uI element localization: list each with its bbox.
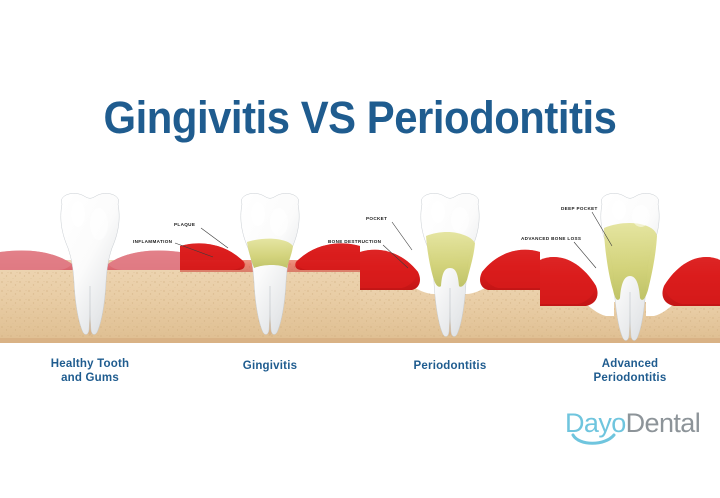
caption-advanced-periodontitis: Advanced Periodontitis xyxy=(540,357,720,385)
infographic-page: Gingivitis VS Periodontitis xyxy=(0,0,720,498)
panel-gingivitis xyxy=(180,190,360,365)
annotation-inflammation: INFLAMMATION xyxy=(133,239,172,244)
smile-swoosh-icon xyxy=(571,433,617,449)
panel-advanced-periodontitis xyxy=(540,190,720,365)
caption-line: Healthy Tooth xyxy=(0,357,180,371)
panel-healthy-tooth xyxy=(0,190,180,365)
dayo-dental-logo: DayoDental xyxy=(565,408,705,452)
annotation-pocket: POCKET xyxy=(366,216,387,221)
caption-line: Advanced xyxy=(540,357,720,371)
annotation-advanced-bone-loss: ADVANCED BONE LOSS xyxy=(521,236,581,241)
caption-gingivitis: Gingivitis xyxy=(180,359,360,373)
panels-row xyxy=(0,190,720,365)
caption-line: Periodontitis xyxy=(540,371,720,385)
caption-periodontitis: Periodontitis xyxy=(360,359,540,373)
annotation-deep-pocket: DEEP POCKET xyxy=(561,206,598,211)
captions-row: Healthy Tooth and Gums Gingivitis Period… xyxy=(0,357,720,399)
caption-line: Gingivitis xyxy=(180,359,360,373)
caption-line: and Gums xyxy=(0,371,180,385)
annotation-bone-destruction: BONE DESTRUCTION xyxy=(328,239,381,244)
logo-dental-text: Dental xyxy=(626,408,700,438)
annotation-plaque: PLAQUE xyxy=(174,222,195,227)
caption-healthy-tooth: Healthy Tooth and Gums xyxy=(0,357,180,385)
page-title: Gingivitis VS Periodontitis xyxy=(25,92,695,144)
caption-line: Periodontitis xyxy=(360,359,540,373)
